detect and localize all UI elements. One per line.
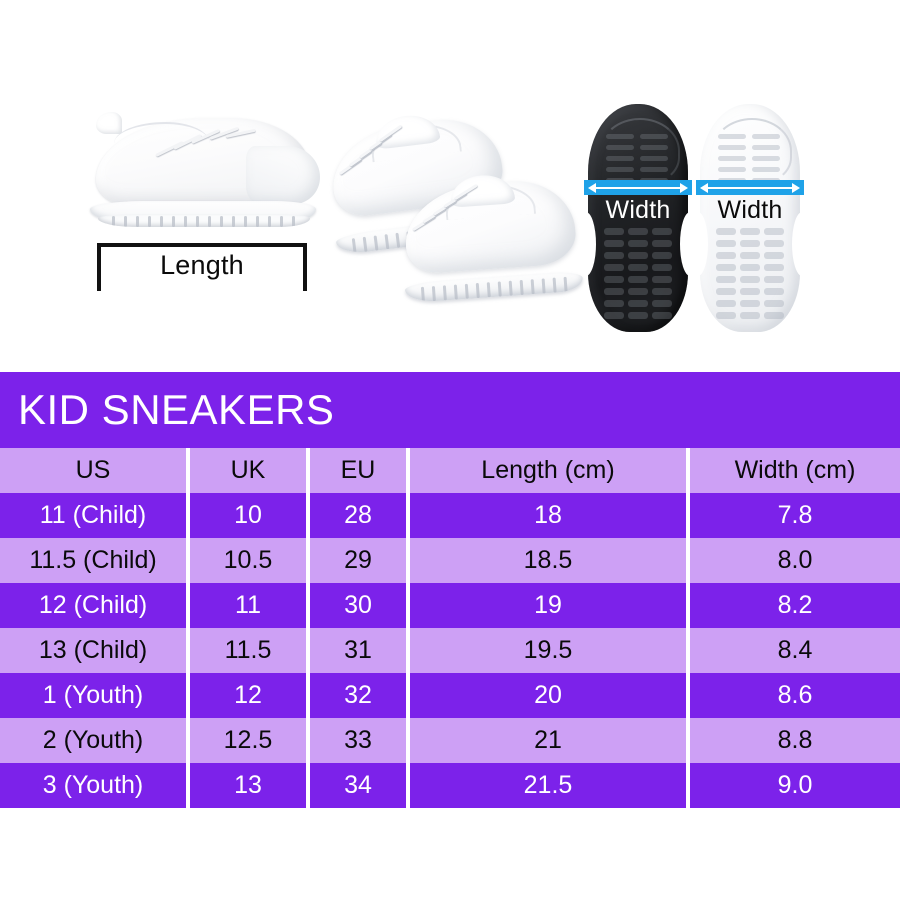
sole-tread-block [652,312,672,319]
sole-tread-block [640,145,668,150]
cell-eu: 32 [308,673,408,718]
width-label-dark: Width [584,196,692,225]
size-chart: KID SNEAKERS USUKEULength (cm)Width (cm)… [0,372,900,808]
cell-us: 11 (Child) [0,493,188,538]
sole-tread-block [764,312,784,319]
sole-tread-block [652,288,672,295]
width-arrow-light [696,180,804,195]
sole-tread-block [606,156,634,161]
shoe-laces [154,132,258,176]
sole-tread-block [718,156,746,161]
cell-width-cm: 8.4 [688,628,900,673]
sole-tread-block [606,145,634,150]
sole-tread-block [640,167,668,172]
column-header-eu: EU [308,448,408,493]
sole-tread-block [752,156,780,161]
sole-tread-block [652,228,672,235]
sole-tread-arc [712,118,792,184]
table-row: 1 (Youth)1232208.6 [0,673,900,718]
sole-tread-block [752,167,780,172]
column-header-width-cm: Width (cm) [688,448,900,493]
sole-tread-block [604,300,624,307]
cell-length-cm: 19 [408,583,688,628]
sole-tread-block [604,228,624,235]
sole-tread-arc [600,118,680,184]
arrow-shaft [594,187,682,189]
width-label-light: Width [696,196,804,225]
table-row: 13 (Child)11.53119.58.4 [0,628,900,673]
sole-tread-block [604,312,624,319]
length-label: Length [97,250,307,281]
cell-width-cm: 8.6 [688,673,900,718]
chart-title-band: KID SNEAKERS [0,372,900,448]
sole-light-view: Width [700,104,800,332]
shoe-outsole [98,214,310,227]
cell-length-cm: 21 [408,718,688,763]
sole-tread-block [716,300,736,307]
cell-us: 3 (Youth) [0,763,188,808]
cell-us: 12 (Child) [0,583,188,628]
sole-tread-block [740,252,760,259]
sole-tread-block [764,276,784,283]
sneaker-side-view-image [88,118,318,233]
sole-tread-block [764,228,784,235]
sole-tread-block [764,300,784,307]
sole-tread-block [740,240,760,247]
size-table: USUKEULength (cm)Width (cm) 11 (Child)10… [0,448,900,808]
sole-tread-block [718,145,746,150]
sole-tread-block [716,312,736,319]
sneaker-pair-image [330,105,580,310]
cell-uk: 11 [188,583,308,628]
sole-tread-block [716,252,736,259]
sole-tread-block [740,228,760,235]
cell-length-cm: 18.5 [408,538,688,583]
table-row: 11 (Child)1028187.8 [0,493,900,538]
sole-tread-block [604,252,624,259]
sole-tread-block [652,240,672,247]
cell-uk: 12.5 [188,718,308,763]
chart-title: KID SNEAKERS [18,389,334,431]
sole-tread-block [628,252,648,259]
width-arrow-dark [584,180,692,195]
cell-width-cm: 8.0 [688,538,900,583]
arrow-head-left-icon [700,183,708,193]
sole-tread-block [740,276,760,283]
sole-tread-block [606,134,634,139]
sole-tread-block [764,252,784,259]
sole-tread-block [764,264,784,271]
cell-eu: 31 [308,628,408,673]
shoe-outsole [405,271,584,303]
table-row: 3 (Youth)133421.59.0 [0,763,900,808]
bracket-bar [97,243,307,247]
table-row: 11.5 (Child)10.52918.58.0 [0,538,900,583]
sole-tread-block [640,134,668,139]
sole-tread-block [716,288,736,295]
sole-tread-block [628,228,648,235]
sole-tread-block [628,276,648,283]
sole-tread-block [604,276,624,283]
sole-tread-block [640,156,668,161]
sole-tread-block [604,240,624,247]
sole-tread-block [740,288,760,295]
sole-tread-block [652,300,672,307]
sole-tread-block [652,264,672,271]
sole-tread-block [752,145,780,150]
cell-uk: 13 [188,763,308,808]
sole-tread-block [652,276,672,283]
sole-tread-block [628,264,648,271]
cell-width-cm: 9.0 [688,763,900,808]
column-header-uk: UK [188,448,308,493]
sole-tread-block [716,228,736,235]
sole-tread-block [740,300,760,307]
cell-eu: 33 [308,718,408,763]
sole-tread-block [740,312,760,319]
sole-tread-block [628,240,648,247]
sole-tread-block [628,288,648,295]
sole-tread-block [604,288,624,295]
table-row: 2 (Youth)12.533218.8 [0,718,900,763]
cell-length-cm: 20 [408,673,688,718]
sole-tread-block [652,252,672,259]
cell-uk: 11.5 [188,628,308,673]
arrow-head-right-icon [680,183,688,193]
cell-length-cm: 19.5 [408,628,688,673]
cell-us: 2 (Youth) [0,718,188,763]
cell-length-cm: 18 [408,493,688,538]
sole-tread-block [716,240,736,247]
sole-tread-block [604,264,624,271]
column-header-length-cm: Length (cm) [408,448,688,493]
table-row: 12 (Child)1130198.2 [0,583,900,628]
cell-us: 11.5 (Child) [0,538,188,583]
cell-uk: 10 [188,493,308,538]
cell-us: 1 (Youth) [0,673,188,718]
shoe-heel-tab [96,112,122,134]
cell-length-cm: 21.5 [408,763,688,808]
cell-eu: 34 [308,763,408,808]
sole-tread-block [752,134,780,139]
cell-width-cm: 8.2 [688,583,900,628]
cell-us: 13 (Child) [0,628,188,673]
sole-tread-block [740,264,760,271]
cell-width-cm: 7.8 [688,493,900,538]
sole-tread-block [628,312,648,319]
cell-uk: 10.5 [188,538,308,583]
cell-eu: 29 [308,538,408,583]
table-header-row: USUKEULength (cm)Width (cm) [0,448,900,493]
sole-tread-block [764,288,784,295]
column-header-us: US [0,448,188,493]
arrow-head-left-icon [588,183,596,193]
sole-tread-block [718,167,746,172]
sole-tread-block [764,240,784,247]
illustration-area: Length Width [0,0,900,370]
arrow-shaft [706,187,794,189]
cell-uk: 12 [188,673,308,718]
arrow-head-right-icon [792,183,800,193]
sneaker-front [398,177,584,309]
sole-dark-view: Width [588,104,688,332]
sole-tread-block [716,264,736,271]
cell-eu: 28 [308,493,408,538]
sole-tread-block [716,276,736,283]
cell-eu: 30 [308,583,408,628]
sole-tread-block [718,134,746,139]
sole-tread-block [606,167,634,172]
cell-width-cm: 8.8 [688,718,900,763]
sole-tread-block [628,300,648,307]
